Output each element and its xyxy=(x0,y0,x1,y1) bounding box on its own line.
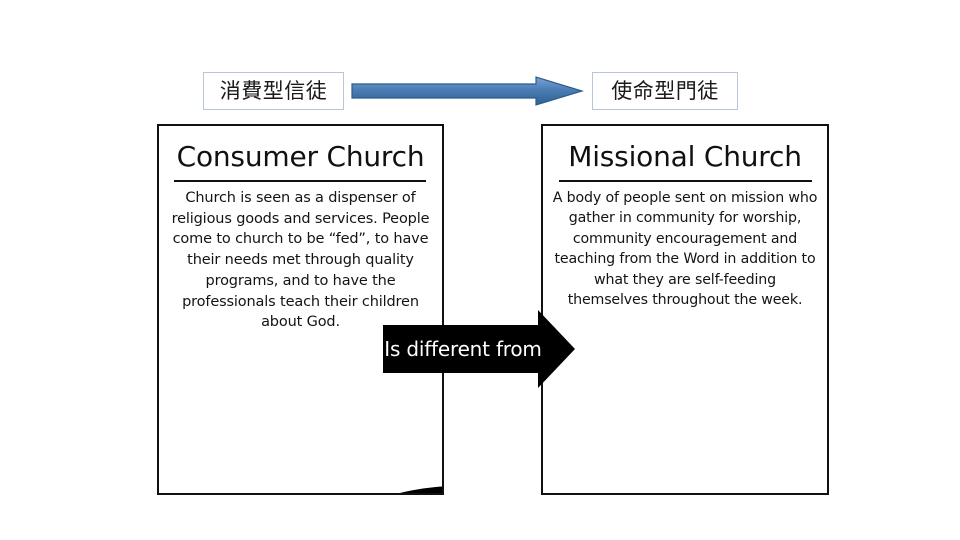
panel-missional-title: Missional Church xyxy=(543,140,827,173)
block-arrow-right-svg xyxy=(383,310,575,388)
slide-canvas: 消費型信徒 使命型門徒 Consumer Church Church is se… xyxy=(0,0,960,540)
blue-right-arrow-icon xyxy=(351,76,584,106)
title-divider xyxy=(174,180,426,182)
blue-right-arrow-svg xyxy=(351,76,584,106)
top-label-missional-text: 使命型門徒 xyxy=(611,81,719,102)
top-label-consumer[interactable]: 消費型信徒 xyxy=(203,72,344,110)
block-arrow-right-icon xyxy=(383,310,575,388)
panel-missional-body: A body of people sent on mission who gat… xyxy=(551,188,819,311)
panel-consumer-title: Consumer Church xyxy=(159,140,442,173)
top-label-missional[interactable]: 使命型門徒 xyxy=(592,72,738,110)
panel-missional-church: Missional Church A body of people sent o… xyxy=(541,124,829,495)
top-label-consumer-text: 消費型信徒 xyxy=(220,81,328,102)
title-divider xyxy=(559,180,812,182)
oval-consumer-statement: I go to church xyxy=(334,486,444,495)
